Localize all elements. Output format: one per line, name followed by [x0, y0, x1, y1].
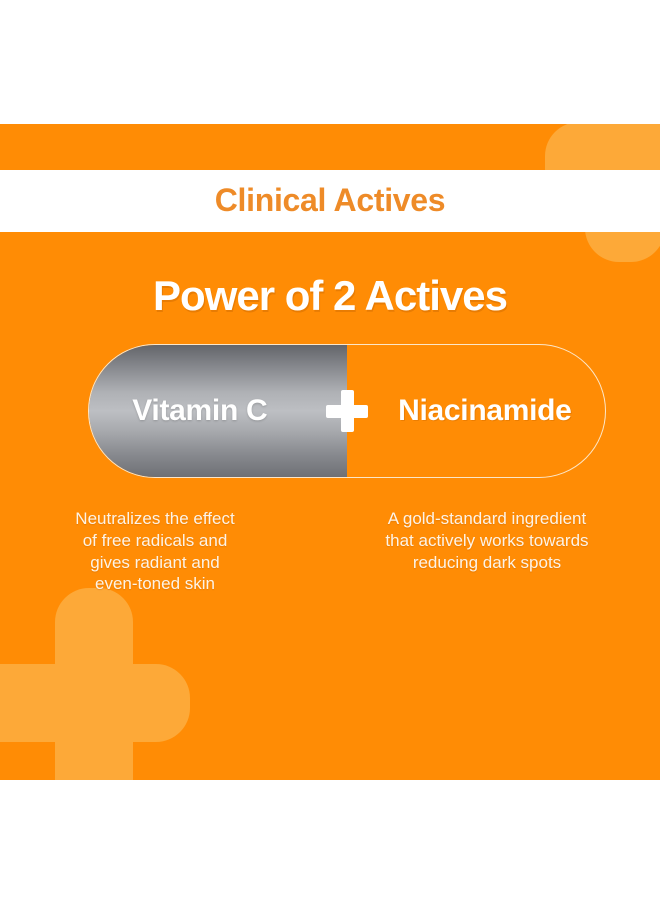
plus-shape-decoration-icon-bottom-left	[0, 588, 190, 780]
product-infographic-canvas: Clinical Actives Power of 2 Actives Vita…	[0, 0, 660, 900]
main-heading: Power of 2 Actives	[0, 272, 660, 320]
capsule-left-label: Vitamin C	[89, 345, 337, 477]
descriptions-row: Neutralizes the effect of free radicals …	[0, 508, 660, 595]
plus-horizontal-bar	[545, 124, 660, 170]
capsule-graphic: Vitamin C Niacinamide	[88, 344, 606, 478]
plus-vertical-bar	[585, 232, 660, 262]
plus-horizontal-bar	[0, 664, 190, 742]
description-niacinamide: A gold-standard ingredient that actively…	[330, 508, 660, 595]
plus-shape-decoration-icon	[545, 124, 660, 170]
page-title: Clinical Actives	[0, 182, 660, 219]
capsule-right-label: Niacinamide	[337, 345, 605, 477]
plus-icon-horizontal	[326, 405, 368, 418]
description-vitamin-c: Neutralizes the effect of free radicals …	[0, 508, 330, 595]
plus-shape-decoration-icon-secondary	[545, 232, 660, 262]
plus-icon	[326, 390, 368, 432]
top-orange-band	[0, 124, 660, 170]
